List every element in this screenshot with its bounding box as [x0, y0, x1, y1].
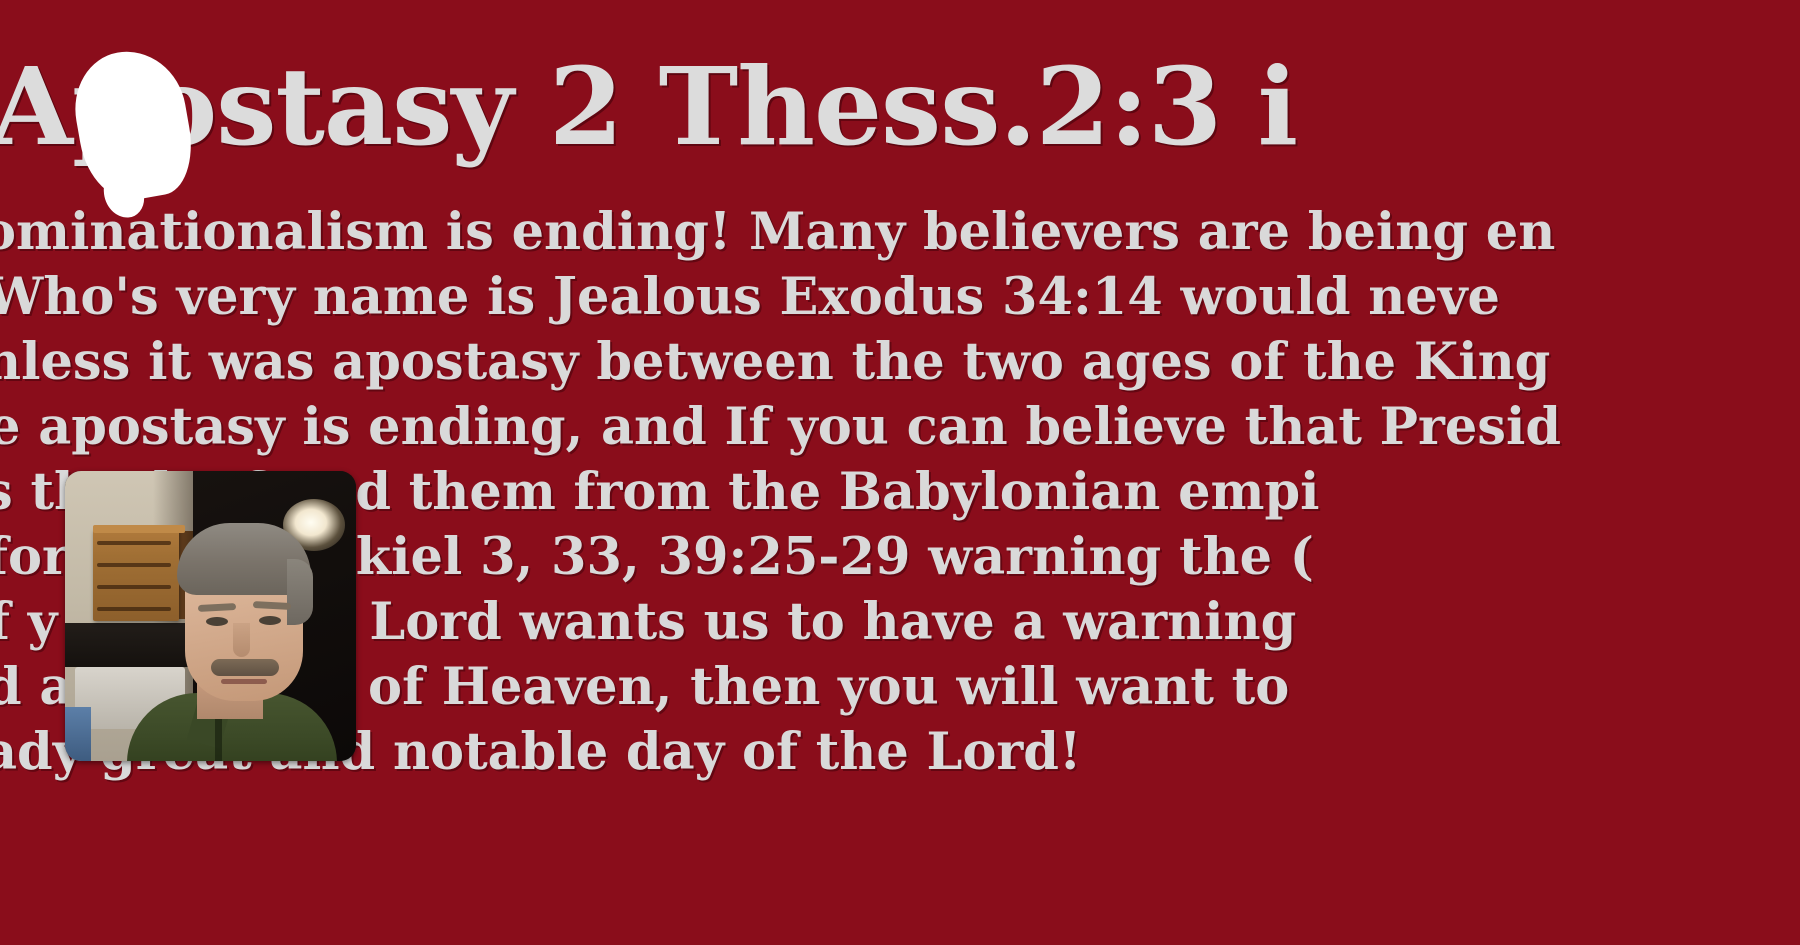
- slide-title: Apostasy 2 Thess.2:3 i: [0, 52, 1800, 164]
- person-hair-side: [287, 559, 313, 625]
- slide-body-line: nless it was apostasy between the two ag…: [0, 330, 1800, 395]
- eye-right: [259, 616, 281, 625]
- black-table: [65, 623, 193, 667]
- screen-share-slide: Apostasy 2 Thess.2:3 i ominationalism is…: [0, 0, 1800, 945]
- drawer-line: [97, 563, 171, 567]
- slide-body-line: e apostasy is ending, and If you can bel…: [0, 395, 1800, 460]
- slide-body-line: ominationalism is ending! Many believers…: [0, 200, 1800, 265]
- drawer-line: [97, 607, 171, 611]
- nose: [233, 623, 250, 657]
- blue-object: [65, 707, 91, 761]
- wooden-dresser: [93, 529, 179, 621]
- slide-body-line: Who's very name is Jealous Exodus 34:14 …: [0, 265, 1800, 330]
- dresser-top: [93, 525, 185, 533]
- eye-left: [206, 617, 228, 626]
- mustache: [211, 659, 279, 676]
- drawer-line: [97, 541, 171, 545]
- webcam-overlay[interactable]: [65, 471, 356, 761]
- mouth: [221, 679, 267, 684]
- drawer-line: [97, 585, 171, 589]
- webcam-video-frame: [65, 471, 356, 761]
